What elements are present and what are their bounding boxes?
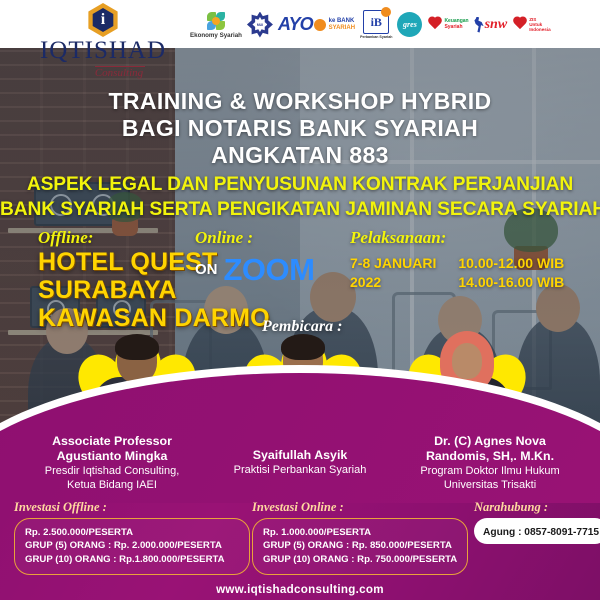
partner-sub1: Perbankan Syariah [360, 35, 392, 39]
price-line: GRUP (10) ORANG : Rp. 750.000/PESERTA [263, 553, 457, 566]
zoom-platform: ON ZOOM [195, 254, 315, 285]
speaker-name-1: Associate Professor Agustianto Mingka Pr… [12, 434, 212, 492]
speaker-role-line-2: Ketua Bidang IAEI [12, 478, 212, 492]
subtitle-line-1: ASPEK LEGAL DAN PENYUSUNAN KONTRAK PERJA… [0, 172, 600, 197]
speaker-role-line-1: Program Doktor Ilmu Hukum [390, 464, 590, 478]
partner-label: gres [403, 20, 417, 29]
investment-section: Investasi Offline : Rp. 2.500.000/PESERT… [0, 500, 600, 580]
partner-label: Ekonomy Syariah [190, 32, 242, 39]
partner-logo-ekonomy-syariah: Ekonomy Syariah [190, 11, 242, 39]
main-title: TRAINING & WORKSHOP HYBRID BAGI NOTARIS … [0, 88, 600, 169]
offline-venue-line-3: KAWASAN DARMO [38, 304, 270, 332]
ayo-dot-icon [314, 19, 326, 31]
partner-logo-snw: snw [474, 17, 508, 33]
brand-name: IQTISHAD [28, 38, 178, 63]
time-line-1: 10.00-12.00 WIB [458, 254, 564, 273]
zoom-logo-text: ZOOM [224, 254, 315, 285]
title-line-3: ANGKATAN 883 [0, 142, 600, 169]
speaker-name-3: Dr. (C) Agnes Nova Randomis, SH,. M.Kn. … [390, 434, 590, 492]
hexagon-emblem-icon: i [28, 3, 178, 37]
partner-label: AYO [278, 14, 313, 35]
price-line: Rp. 1.000.000/PESERTA [263, 526, 457, 539]
schedule-label: Pelaksanaan: [350, 228, 564, 248]
brand-tagline: Consulting [95, 66, 145, 79]
logo-letter: i [91, 8, 115, 32]
flyer-poster: i IQTISHAD Consulting Ekonomy Syariah MU… [0, 0, 600, 600]
speaker-role-line-2: Universitas Trisakti [390, 478, 590, 492]
price-line: GRUP (5) ORANG : Rp. 850.000/PESERTA [263, 539, 457, 552]
zis-icon: ZIS Untuk Indonesia [512, 17, 550, 32]
gres-icon: gres [397, 12, 422, 37]
runner-icon [474, 17, 484, 33]
snw-icon: snw [474, 17, 508, 33]
partner-sub1: ke BANK [329, 18, 355, 24]
partner-label: iB [371, 15, 382, 30]
date-line-2: 2022 [350, 273, 436, 292]
partner-label: snw [485, 17, 508, 33]
iqtishad-logo: i IQTISHAD Consulting [28, 3, 178, 81]
speaker-name-line-1: Dr. (C) Agnes Nova [390, 434, 590, 449]
investment-offline-label: Investasi Offline : [14, 500, 250, 515]
date-line-1: 7-8 JANUARI [350, 254, 436, 273]
partner-sub2: Indonesia [529, 27, 550, 32]
partner-logo-ayo-ke-bank-syariah: AYO ke BANK SYARIAH [278, 14, 355, 35]
heart-icon [512, 17, 528, 32]
schedule-times: 10.00-12.00 WIB 14.00-16.00 WIB [458, 254, 564, 292]
partner-logo-ib-perbankan-syariah: iB Perbankan Syariah [360, 10, 392, 39]
speaker-name-line-1: Syaifullah Asyik [200, 448, 400, 463]
price-line: GRUP (5) ORANG : Rp. 2.000.000/PESERTA [25, 539, 239, 552]
schedule-block: Pelaksanaan: 7-8 JANUARI 2022 10.00-12.0… [350, 228, 564, 292]
contact-phone-badge[interactable]: Agung : 0857-8091-7715 [474, 518, 600, 544]
investment-offline: Investasi Offline : Rp. 2.500.000/PESERT… [14, 500, 250, 575]
investment-offline-box: Rp. 2.500.000/PESERTA GRUP (5) ORANG : R… [14, 518, 250, 575]
investment-online: Investasi Online : Rp. 1.000.000/PESERTA… [252, 500, 468, 575]
investment-online-label: Investasi Online : [252, 500, 468, 515]
ekonomy-syariah-icon [206, 11, 226, 31]
website-url[interactable]: www.iqtishadconsulting.com [0, 583, 600, 596]
speaker-name-line-2: Agustianto Mingka [12, 449, 212, 464]
price-line: GRUP (10) ORANG : Rp.1.800.000/PESERTA [25, 553, 239, 566]
contact-label: Narahubung : [474, 500, 596, 515]
title-line-2: BAGI NOTARIS BANK SYARIAH [0, 115, 600, 142]
speaker-role-line-1: Presdir Iqtishad Consulting, [12, 464, 212, 478]
speaker-name-line-1: Associate Professor [12, 434, 212, 449]
partner-logo-mui-star: MUI [247, 12, 273, 38]
online-label: Online : [195, 228, 315, 248]
ib-icon: iB [363, 10, 389, 34]
speaker-name-line-2: Randomis, SH,. M.Kn. [390, 449, 590, 464]
speaker-name-2: Syaifullah Asyik Praktisi Perbankan Syar… [200, 448, 400, 477]
mui-star-icon: MUI [247, 12, 273, 38]
time-line-2: 14.00-16.00 WIB [458, 273, 564, 292]
partner-logo-gres: gres [397, 12, 422, 37]
partner-logo-keuangan-syariah: Keuangan Syariah [427, 17, 468, 32]
ayo-icon: AYO ke BANK SYARIAH [278, 14, 355, 35]
online-on-label: ON [195, 261, 218, 278]
online-platform-block: Online : ON ZOOM [195, 228, 315, 285]
keuangan-syariah-icon: Keuangan Syariah [427, 17, 468, 32]
contact-section: Narahubung : Agung : 0857-8091-7715 [474, 500, 596, 544]
speaker-names: Associate Professor Agustianto Mingka Pr… [0, 434, 600, 504]
contact-phone-value: Agung : 0857-8091-7715 [483, 527, 599, 538]
speaker-role-line-1: Praktisi Perbankan Syariah [200, 463, 400, 477]
partner-sub1: Syariah [444, 25, 468, 31]
investment-online-box: Rp. 1.000.000/PESERTA GRUP (5) ORANG : R… [252, 518, 468, 575]
subtitle: ASPEK LEGAL DAN PENYUSUNAN KONTRAK PERJA… [0, 172, 600, 222]
partner-label: MUI [252, 17, 267, 32]
title-line-1: TRAINING & WORKSHOP HYBRID [0, 88, 600, 115]
partner-logo-zis-indonesia: ZIS Untuk Indonesia [512, 17, 550, 32]
subtitle-line-2: BANK SYARIAH SERTA PENGIKATAN JAMINAN SE… [0, 197, 600, 222]
schedule-dates: 7-8 JANUARI 2022 [350, 254, 436, 292]
price-line: Rp. 2.500.000/PESERTA [25, 526, 239, 539]
partner-logo-strip: Ekonomy Syariah MUI AYO ke BANK SYARIAH … [186, 0, 600, 46]
heart-icon [427, 17, 443, 32]
partner-sub2: SYARIAH [329, 25, 355, 31]
